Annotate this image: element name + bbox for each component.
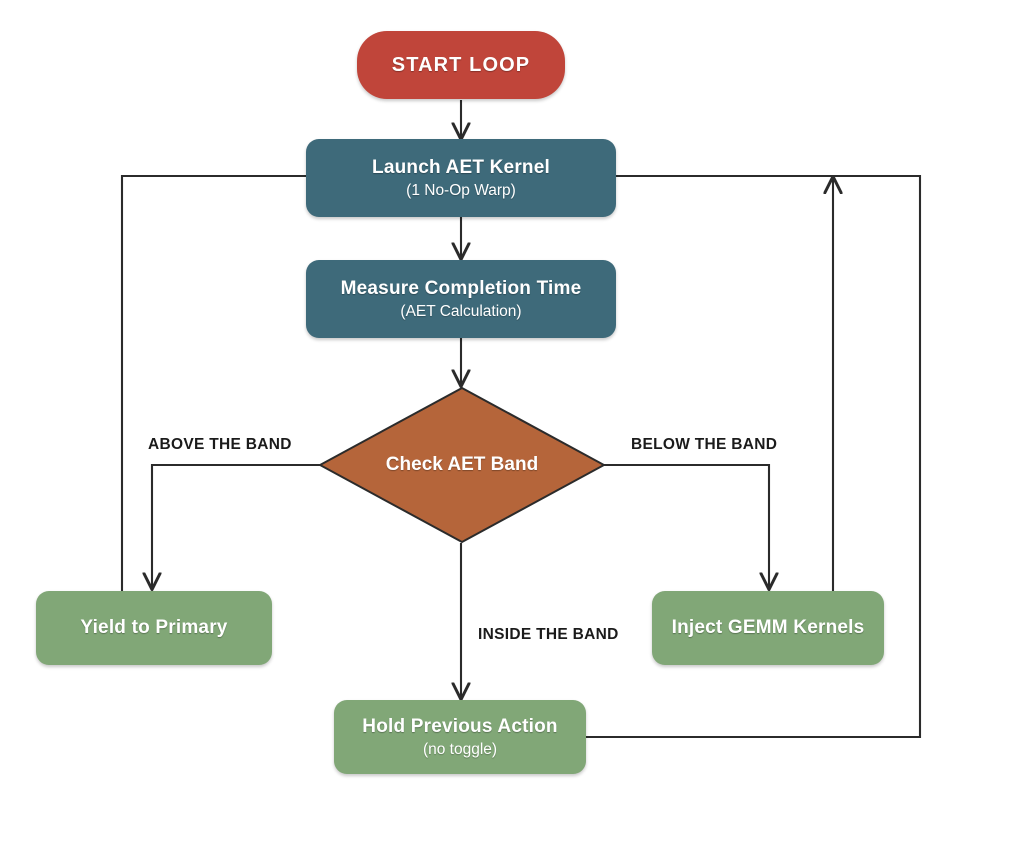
node-measure-completion-time-subtitle: (AET Calculation) <box>400 303 521 321</box>
edge-label-inside-the-band: INSIDE THE BAND <box>478 626 619 644</box>
node-yield-to-primary[interactable]: Yield to Primary <box>36 591 272 665</box>
node-launch-aet-kernel[interactable]: Launch AET Kernel (1 No-Op Warp) <box>306 139 616 217</box>
node-measure-completion-time[interactable]: Measure Completion Time (AET Calculation… <box>306 260 616 338</box>
node-hold-previous-action-subtitle: (no toggle) <box>423 741 497 759</box>
node-measure-completion-time-title: Measure Completion Time <box>341 278 582 300</box>
node-yield-to-primary-title: Yield to Primary <box>80 617 227 639</box>
node-launch-aet-kernel-subtitle: (1 No-Op Warp) <box>406 182 516 200</box>
node-start-loop[interactable]: START LOOP <box>357 31 565 99</box>
flowchart-canvas: START LOOP Launch AET Kernel (1 No-Op Wa… <box>0 0 1024 853</box>
edge-label-below-the-band: BELOW THE BAND <box>631 436 777 454</box>
edge-check-to-inject <box>604 465 769 588</box>
edge-label-above-the-band: ABOVE THE BAND <box>148 436 292 454</box>
node-inject-gemm-kernels-title: Inject GEMM Kernels <box>672 617 865 639</box>
diamond-shape <box>320 388 604 542</box>
node-hold-previous-action[interactable]: Hold Previous Action (no toggle) <box>334 700 586 774</box>
node-inject-gemm-kernels[interactable]: Inject GEMM Kernels <box>652 591 884 665</box>
node-start-loop-title: START LOOP <box>392 54 530 77</box>
node-launch-aet-kernel-title: Launch AET Kernel <box>372 157 550 179</box>
edge-check-to-yield <box>152 465 320 588</box>
node-hold-previous-action-title: Hold Previous Action <box>362 716 557 738</box>
node-check-aet-band[interactable]: Check AET Band <box>318 386 606 544</box>
